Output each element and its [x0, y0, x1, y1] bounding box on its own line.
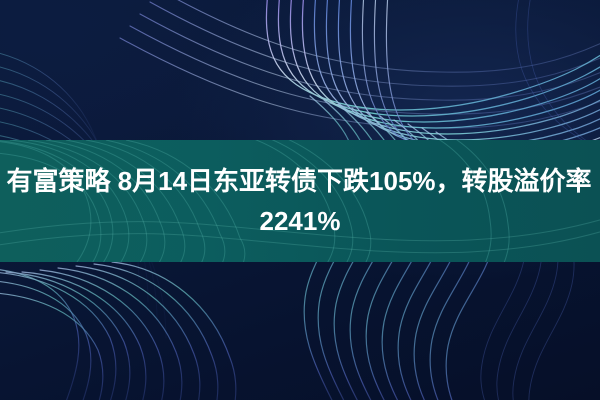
headline-line-1: 有富策略 8月14日东亚转债下跌105%，转股溢价率 [6, 161, 591, 201]
news-banner: 有富策略 8月14日东亚转债下跌105%，转股溢价率 2241% [0, 0, 600, 400]
headline-line-2: 2241% [260, 201, 341, 241]
headline-text-group: 有富策略 8月14日东亚转债下跌105%，转股溢价率 2241% [0, 140, 600, 262]
